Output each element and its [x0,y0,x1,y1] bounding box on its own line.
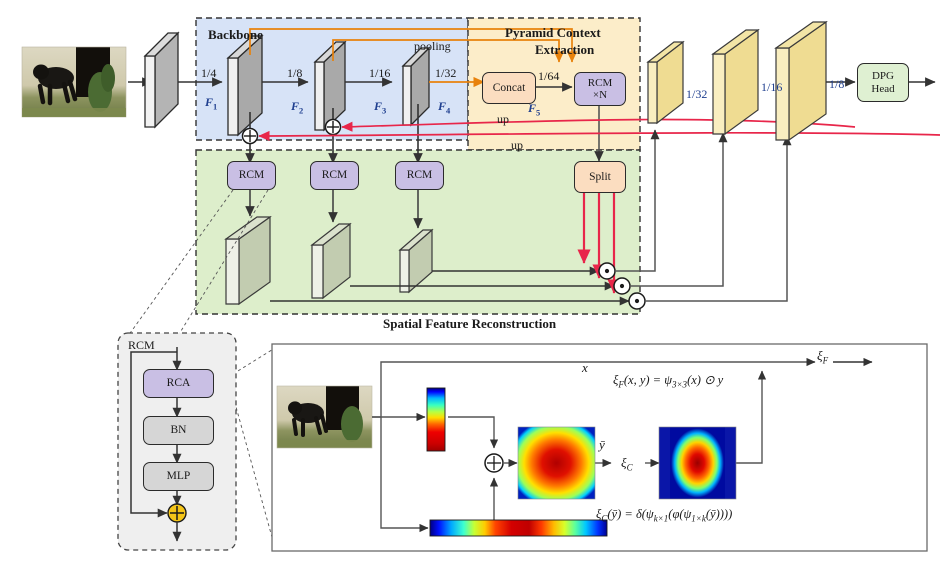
stem-feature-block [145,33,178,127]
input-image [22,47,126,117]
scale-label-1-16: 1/16 [369,67,390,79]
sfr-rcm-box-1[interactable]: RCM [227,161,276,190]
rca-block-label: RCA [167,377,191,390]
sfr-rcm-label-2: RCM [322,169,348,182]
up-label-1: up [497,113,509,125]
bn-block-label: BN [171,424,187,437]
bn-block[interactable]: BN [143,416,214,445]
dpg-head-box[interactable]: DPG Head [857,63,909,102]
backbone-title: Backbone [208,28,263,41]
heatmap-xi-c-output [659,427,736,499]
spatial-attention-horizontal-bar [430,520,607,536]
up-label-2: up [511,139,523,151]
sfr-rcm-label-1: RCM [239,169,265,182]
decoder-scale-1-8: 1/8 [829,78,844,90]
rca-x-label: x [582,361,588,374]
concat-output-scale: 1/64 [538,70,559,82]
feature-label-f4: F4 [438,100,450,115]
pooling-label: pooling [414,40,451,52]
pyramid-rcm-repeat: ×N [593,89,607,101]
feature-label-f5: F5 [528,102,540,117]
multiply-node-2 [614,278,630,294]
split-label: Split [589,171,611,184]
dpg-head-line2: Head [871,83,894,95]
multiply-node-1 [599,263,615,279]
channel-attention-vertical-bar [427,388,445,451]
feature-label-f1: F1 [205,96,217,111]
rca-ybar-label: ȳ [599,438,605,451]
split-box[interactable]: Split [574,161,626,193]
rca-input-thumbnail [277,386,372,448]
callout-rca [233,348,275,548]
rcm-detail-title: RCM [128,339,155,351]
scale-label-1-8: 1/8 [287,67,302,79]
dpg-head-line1: DPG [872,70,894,82]
pyramid-title-line1: Pyramid Context [505,26,601,39]
sfr-rcm-label-3: RCM [407,169,433,182]
diagram-canvas [0,0,940,570]
sfr-rcm-box-2[interactable]: RCM [310,161,359,190]
multiply-node-3 [629,293,645,309]
mlp-block[interactable]: MLP [143,462,214,491]
scale-label-1-4: 1/4 [201,67,216,79]
pyramid-rcm-box[interactable]: RCM ×N [574,72,626,106]
decoder-scale-1-32: 1/32 [686,88,707,100]
scale-label-1-32: 1/32 [435,67,456,79]
concat-box[interactable]: Concat [482,72,536,104]
rca-xi-c-label: ξC [621,456,633,473]
rca-block[interactable]: RCA [143,369,214,398]
equation-xi-f: ξF(x, y) = ψ3×3(x) ⊙ y [613,374,723,390]
feature-label-f2: F2 [291,100,303,115]
decoder-block-1-16 [713,30,758,134]
feature-label-f3: F3 [374,100,386,115]
pyramid-rcm-label: RCM [588,77,612,89]
rca-xi-f-label: ξF [817,349,828,366]
pyramid-title-line2: Extraction [535,43,594,56]
concat-label: Concat [493,82,526,95]
decoder-block-1-8 [776,22,826,140]
sfr-rcm-box-3[interactable]: RCM [395,161,444,190]
sfr-title: Spatial Feature Reconstruction [383,317,556,330]
decoder-scale-1-16: 1/16 [761,81,782,93]
equation-xi-c: ξC(ȳ) = δ(ψk×1(φ(ψ1×k(ȳ)))) [596,508,732,524]
mlp-block-label: MLP [167,470,191,483]
heatmap-ybar [518,427,595,499]
decoder-block-1-32 [648,42,683,123]
